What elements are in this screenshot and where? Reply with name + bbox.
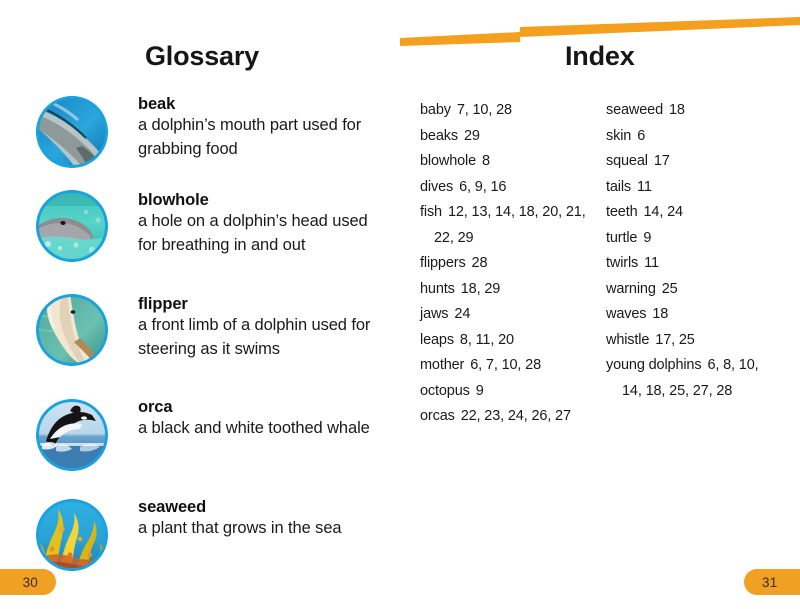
- index-entry: squeal17: [606, 149, 778, 175]
- index-pages: 6: [637, 128, 645, 144]
- glossary-entry-text: blowhole a hole on a dolphin’s head used…: [138, 188, 376, 257]
- index-term: twirls: [606, 255, 638, 271]
- glossary-term: flipper: [138, 294, 376, 314]
- glossary-page-title: Glossary: [145, 41, 259, 72]
- index-term: fish: [420, 204, 442, 220]
- index-term: beaks: [420, 128, 458, 144]
- orange-stripe-decoration: [0, 0, 800, 80]
- glossary-definition: a hole on a dolphin’s head used for brea…: [138, 210, 376, 257]
- index-entry: mother6, 7, 10, 28: [420, 353, 592, 379]
- index-entry: jaws24: [420, 302, 592, 328]
- index-entry: fish12, 13, 14, 18, 20, 21, 22, 29: [420, 200, 592, 251]
- index-entry: baby7, 10, 28: [420, 98, 592, 124]
- index-entry: beaks29: [420, 124, 592, 150]
- index-entry: young dolphins6, 8, 10, 14, 18, 25, 27, …: [606, 353, 778, 404]
- index-term: jaws: [420, 306, 448, 322]
- dolphin-flipper-photo: [36, 294, 108, 366]
- seaweed-underwater-photo: [36, 499, 108, 571]
- index-term: baby: [420, 102, 451, 118]
- index-entry: hunts18, 29: [420, 277, 592, 303]
- orca-breaching-photo: [36, 399, 108, 471]
- index-pages: 28: [472, 255, 488, 271]
- index-term: squeal: [606, 153, 648, 169]
- index-pages: 18, 29: [461, 281, 500, 297]
- index-pages: 9: [643, 230, 651, 246]
- index-entry: warning25: [606, 277, 778, 303]
- index-pages: 17: [654, 153, 670, 169]
- glossary-definition: a dolphin’s mouth part used for grabbing…: [138, 114, 376, 161]
- index-term: turtle: [606, 230, 637, 246]
- index-term: blowhole: [420, 153, 476, 169]
- index-entry: octopus9: [420, 379, 592, 405]
- index-term: leaps: [420, 332, 454, 348]
- index-entry: twirls11: [606, 251, 778, 277]
- dolphin-blowhole-photo: [36, 190, 108, 262]
- index-pages: 17, 25: [655, 332, 694, 348]
- glossary-definition: a plant that grows in the sea: [138, 517, 376, 541]
- glossary-entry: seaweed a plant that grows in the sea: [36, 495, 376, 585]
- index-term: tails: [606, 179, 631, 195]
- index-pages: 8: [482, 153, 490, 169]
- index-pages: 11: [644, 255, 659, 271]
- glossary-term: blowhole: [138, 190, 376, 210]
- index-pages: 18: [652, 306, 668, 322]
- index-term: mother: [420, 357, 464, 373]
- index-pages: 24: [454, 306, 470, 322]
- index-term: young dolphins: [606, 357, 701, 373]
- glossary-entry-list: beak a dolphin’s mouth part used for gra…: [36, 92, 376, 585]
- index-term: warning: [606, 281, 656, 297]
- index-entry: turtle9: [606, 226, 778, 252]
- glossary-entry: blowhole a hole on a dolphin’s head used…: [36, 188, 376, 292]
- page-number-right: 31: [744, 569, 800, 595]
- dolphin-beak-photo: [36, 96, 108, 168]
- book-spread: Glossary Index: [0, 0, 800, 609]
- index-entry: skin6: [606, 124, 778, 150]
- glossary-entry-text: beak a dolphin’s mouth part used for gra…: [138, 92, 376, 161]
- index-entry: whistle17, 25: [606, 328, 778, 354]
- glossary-definition: a black and white toothed whale: [138, 417, 376, 441]
- index-term: skin: [606, 128, 631, 144]
- index-pages: 18: [669, 102, 685, 118]
- index-pages: 7, 10, 28: [457, 102, 512, 118]
- glossary-entry-text: orca a black and white toothed whale: [138, 395, 376, 441]
- index-column-right: seaweed18 skin6 squeal17 tails11 teeth14…: [618, 98, 778, 430]
- index-columns: baby7, 10, 28 beaks29 blowhole8 dives6, …: [432, 98, 782, 430]
- glossary-term: orca: [138, 397, 376, 417]
- index-entry: seaweed18: [606, 98, 778, 124]
- index-term: dives: [420, 179, 453, 195]
- glossary-entry-text: flipper a front limb of a dolphin used f…: [138, 292, 376, 361]
- index-entry: dives6, 9, 16: [420, 175, 592, 201]
- page-number-left: 30: [0, 569, 56, 595]
- index-term: teeth: [606, 204, 638, 220]
- index-column-left: baby7, 10, 28 beaks29 blowhole8 dives6, …: [432, 98, 592, 430]
- index-entry: leaps8, 11, 20: [420, 328, 592, 354]
- glossary-term: beak: [138, 94, 376, 114]
- index-term: hunts: [420, 281, 455, 297]
- glossary-term: seaweed: [138, 497, 376, 517]
- index-entry: flippers28: [420, 251, 592, 277]
- index-pages: 29: [464, 128, 480, 144]
- index-term: seaweed: [606, 102, 663, 118]
- glossary-entry-text: seaweed a plant that grows in the sea: [138, 495, 376, 541]
- index-term: octopus: [420, 383, 470, 399]
- index-entry: tails11: [606, 175, 778, 201]
- index-pages: 6, 7, 10, 28: [470, 357, 541, 373]
- index-entry: teeth14, 24: [606, 200, 778, 226]
- index-entry: orcas22, 23, 24, 26, 27: [420, 404, 592, 430]
- index-pages: 25: [662, 281, 678, 297]
- orange-stripe-svg: [0, 0, 800, 80]
- glossary-definition: a front limb of a dolphin used for steer…: [138, 314, 376, 361]
- index-pages: 6, 9, 16: [459, 179, 506, 195]
- index-term: whistle: [606, 332, 649, 348]
- index-entry: blowhole8: [420, 149, 592, 175]
- index-pages: 9: [476, 383, 484, 399]
- glossary-entry: beak a dolphin’s mouth part used for gra…: [36, 92, 376, 188]
- index-term: waves: [606, 306, 646, 322]
- index-pages: 14, 24: [644, 204, 683, 220]
- index-term: orcas: [420, 408, 455, 424]
- index-pages: 11: [637, 179, 652, 195]
- index-page-title: Index: [565, 41, 635, 72]
- index-pages: 8, 11, 20: [460, 332, 514, 348]
- glossary-entry: flipper a front limb of a dolphin used f…: [36, 292, 376, 395]
- index-term: flippers: [420, 255, 466, 271]
- index-pages: 22, 23, 24, 26, 27: [461, 408, 571, 424]
- index-entry: waves18: [606, 302, 778, 328]
- index-pages: 12, 13, 14, 18, 20, 21, 22, 29: [434, 204, 586, 246]
- glossary-entry: orca a black and white toothed whale: [36, 395, 376, 495]
